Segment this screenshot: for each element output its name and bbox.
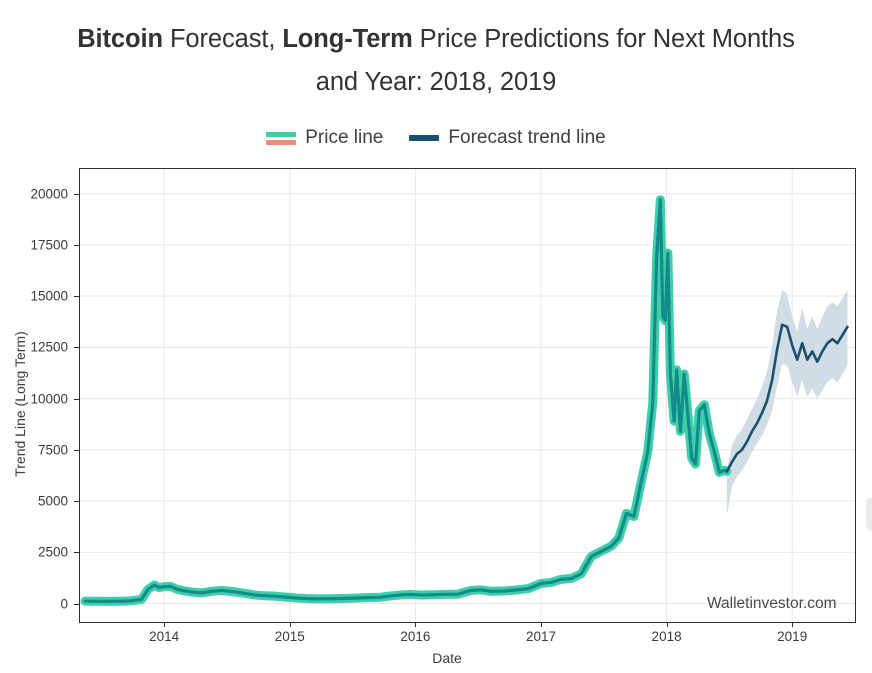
legend-item-price-line[interactable]: Price line	[266, 127, 383, 149]
chart-title: Bitcoin Forecast, Long-Term Price Predic…	[0, 18, 872, 104]
y-tick-label: 12500	[0, 340, 68, 355]
y-tick-label: 15000	[0, 289, 68, 304]
y-tick-label: 10000	[0, 391, 68, 406]
y-tick-label: 17500	[0, 237, 68, 252]
price-line-glow	[85, 200, 727, 602]
chart-canvas	[80, 169, 855, 622]
y-tick-label: 7500	[0, 442, 68, 457]
x-tick-label: 2015	[275, 629, 305, 644]
legend-item-forecast-trend-line[interactable]: Forecast trend line	[409, 127, 605, 149]
forecast-line-swatch-icon	[409, 135, 439, 141]
chart-title-line-1: Bitcoin Forecast, Long-Term Price Predic…	[0, 18, 872, 61]
gridlines	[80, 169, 855, 622]
title-segment-2: Long-Term	[282, 25, 412, 53]
chart-page: Bitcoin Forecast, Long-Term Price Predic…	[0, 0, 872, 673]
x-tick-label: 2018	[652, 629, 682, 644]
chart-legend: Price line Forecast trend line	[0, 127, 872, 149]
x-tick-label: 2016	[400, 629, 430, 644]
x-tick-label: 2017	[526, 629, 556, 644]
y-tick-label: 0	[0, 596, 68, 611]
title-segment-1: Forecast,	[163, 25, 282, 53]
forecast-confidence-band	[727, 290, 848, 515]
legend-label-price-line: Price line	[305, 127, 383, 149]
watermark-text: Walletinvestor.com	[707, 595, 837, 613]
x-axis-label: Date	[0, 650, 872, 666]
chart-title-line-2: and Year: 2018, 2019	[0, 61, 872, 104]
price-line-swatch-icon	[266, 132, 296, 145]
y-axis-label: Trend Line (Long Term)	[12, 314, 28, 494]
price-line	[85, 200, 727, 602]
page-edge-sliver	[866, 497, 872, 531]
y-tick-label: 20000	[0, 186, 68, 201]
legend-label-forecast-trend-line: Forecast trend line	[448, 127, 605, 149]
title-segment-3: Price Predictions for Next Months	[413, 25, 795, 53]
x-tick-label: 2014	[149, 629, 179, 644]
y-tick-label: 5000	[0, 494, 68, 509]
plot-area[interactable]: Walletinvestor.com	[79, 168, 856, 623]
x-tick-label: 2019	[777, 629, 807, 644]
title-segment-0: Bitcoin	[77, 25, 163, 53]
y-tick-label: 2500	[0, 545, 68, 560]
